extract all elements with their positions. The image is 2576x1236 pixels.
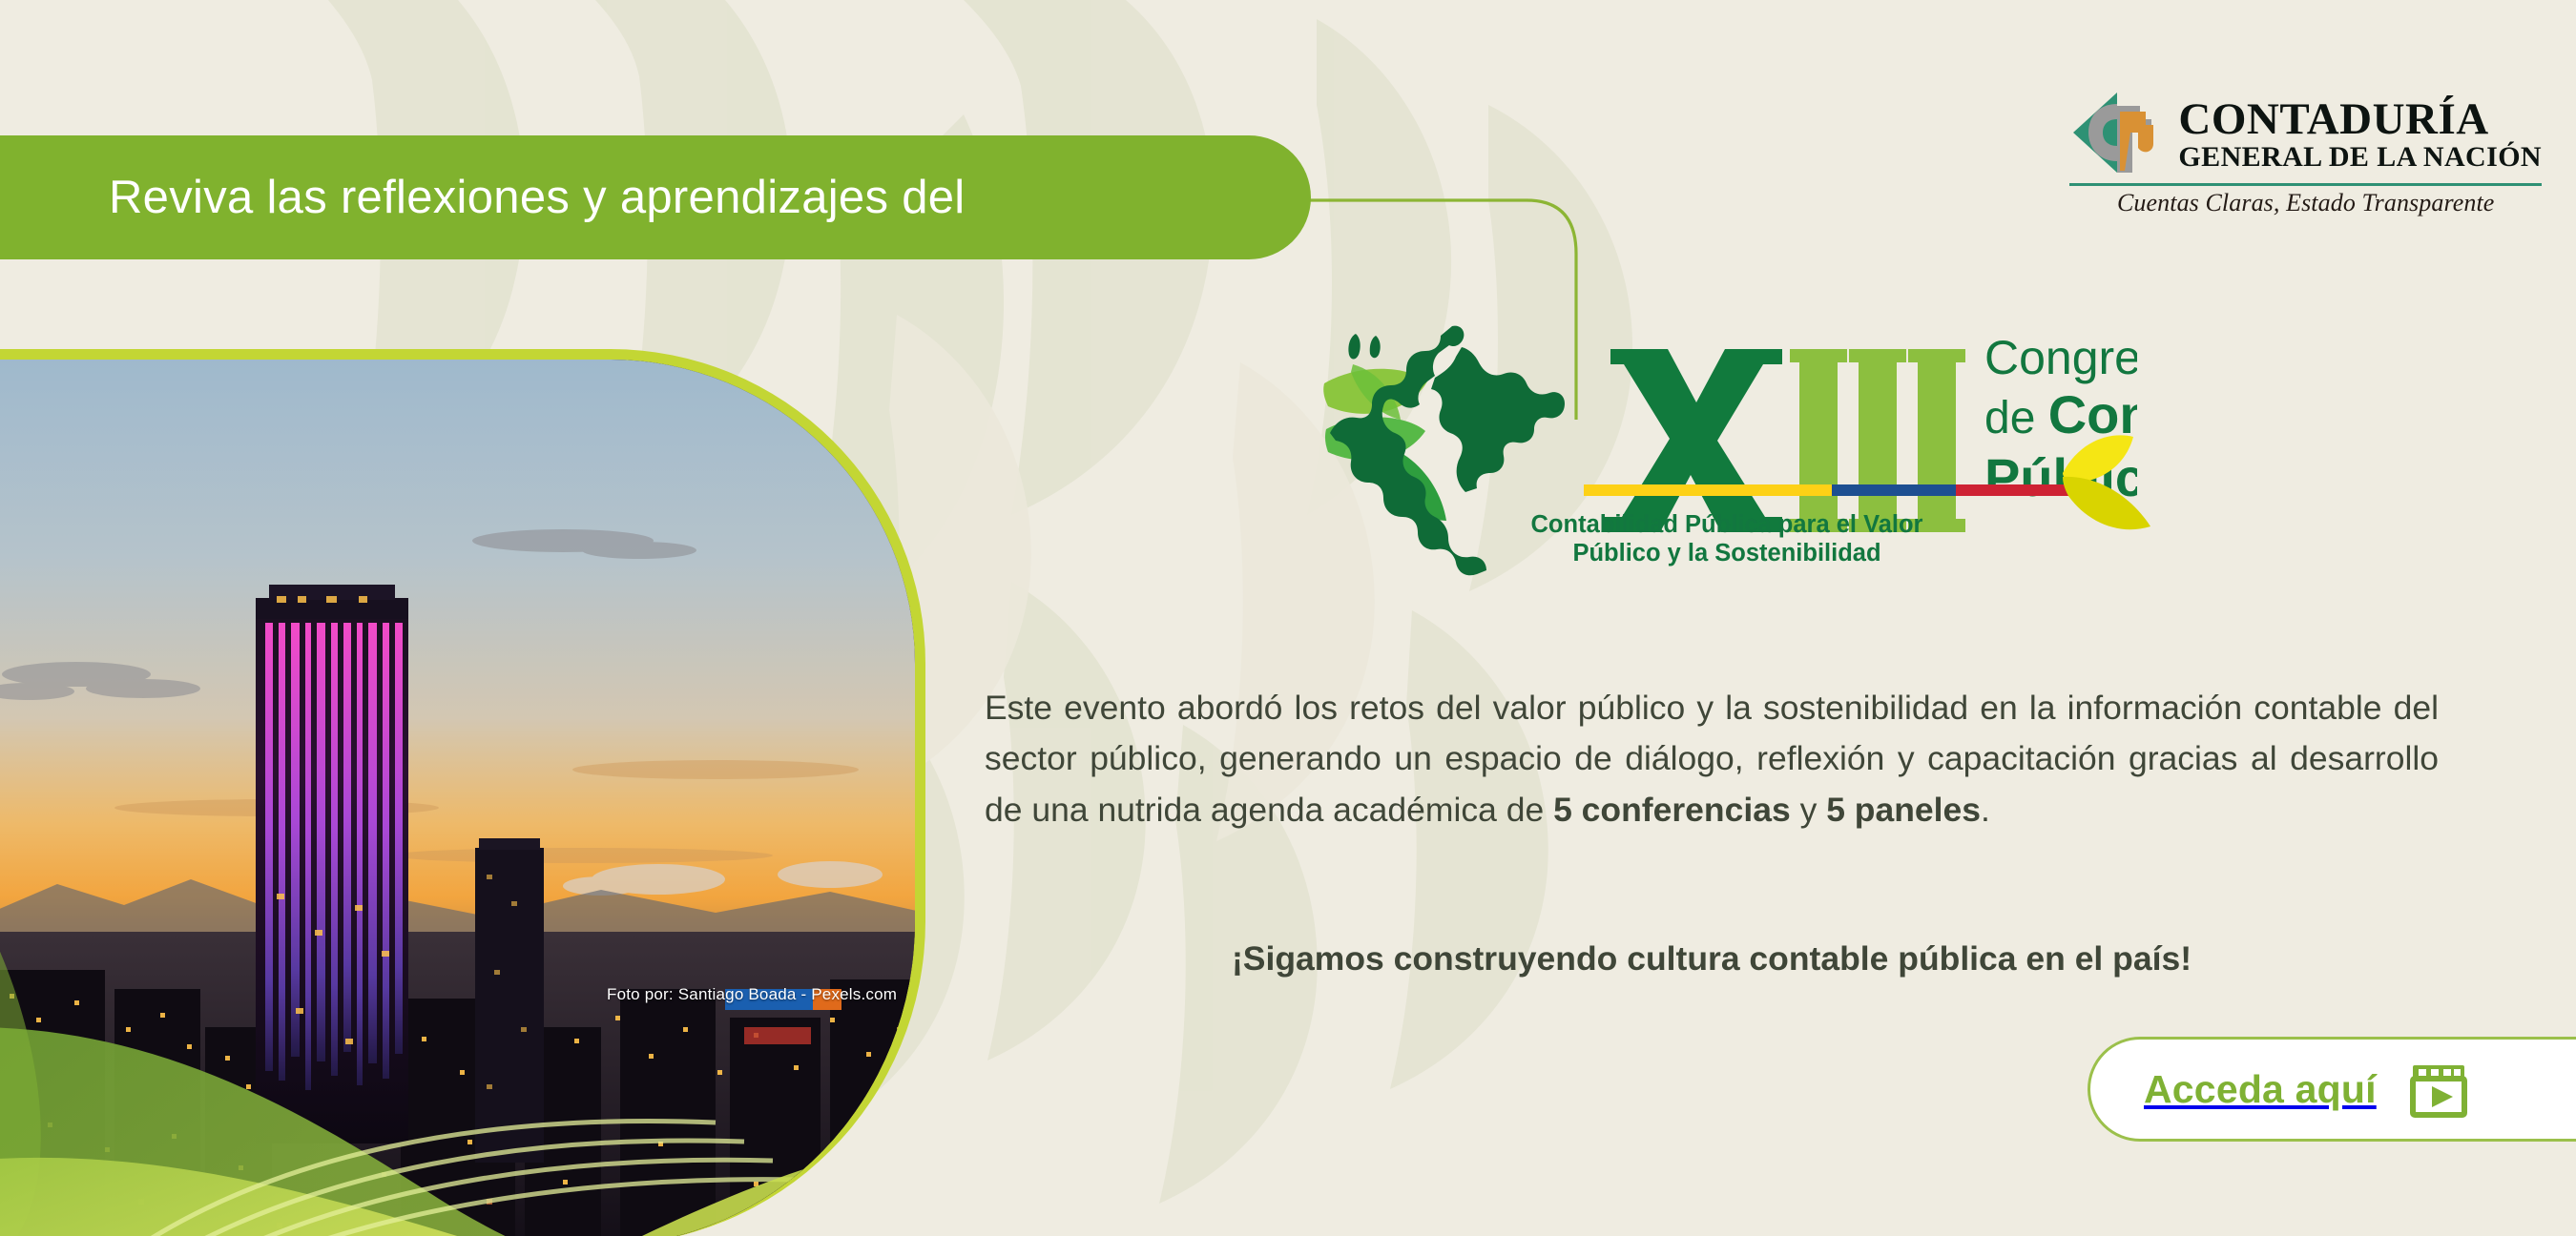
institution-logo: CONTADURÍA GENERAL DE LA NACIÓN Cuentas … xyxy=(2069,91,2542,217)
skyline-illustration xyxy=(0,360,915,1236)
institution-tagline: Cuentas Claras, Estado Transparente xyxy=(2069,189,2542,217)
closing-statement: ¡Sigamos construyendo cultura contable p… xyxy=(985,939,2439,978)
cta-label: Acceda aquí xyxy=(2144,1067,2377,1112)
body-paragraph: Este evento abordó los retos del valor p… xyxy=(985,683,2439,837)
headline-banner: Reviva las reflexiones y aprendizajes de… xyxy=(0,135,1311,259)
institution-name-line1: CONTADURÍA xyxy=(2178,94,2488,144)
congress-line1: Congreso Nacional xyxy=(1984,331,2137,384)
video-play-icon xyxy=(2409,1060,2468,1119)
paragraph-end: . xyxy=(1981,791,1990,829)
congress-line2-prefix: de xyxy=(1984,393,2048,443)
congress-subtitle-line2: Público y la Sostenibilidad xyxy=(1317,539,2137,567)
headline-text: Reviva las reflexiones y aprendizajes de… xyxy=(109,171,965,224)
photo-credit: Foto por: Santiago Boada - Pexels.com xyxy=(607,985,897,1004)
promo-banner: Foto por: Santiago Boada - Pexels.com Re… xyxy=(0,0,2576,1236)
institution-name-line2: GENERAL DE LA NACIÓN xyxy=(2178,141,2542,174)
congress-subtitle: Contabilidad Pública para el Valor Públi… xyxy=(1317,510,2137,567)
congress-subtitle-line1: Contabilidad Pública para el Valor xyxy=(1317,510,2137,539)
yellow-leaf-icon xyxy=(2051,420,2194,548)
cgn-emblem-icon xyxy=(2069,91,2161,179)
paragraph-mid: y xyxy=(1791,791,1826,829)
colombia-flag-bar xyxy=(1584,484,2080,496)
paragraph-bold-conferencias: 5 conferencias xyxy=(1553,791,1791,829)
bogota-skyline-photo xyxy=(0,349,925,1236)
institution-divider xyxy=(2069,183,2542,186)
paragraph-bold-paneles: 5 paneles xyxy=(1826,791,1981,829)
acceda-aqui-button[interactable]: Acceda aquí xyxy=(2088,1037,2576,1142)
